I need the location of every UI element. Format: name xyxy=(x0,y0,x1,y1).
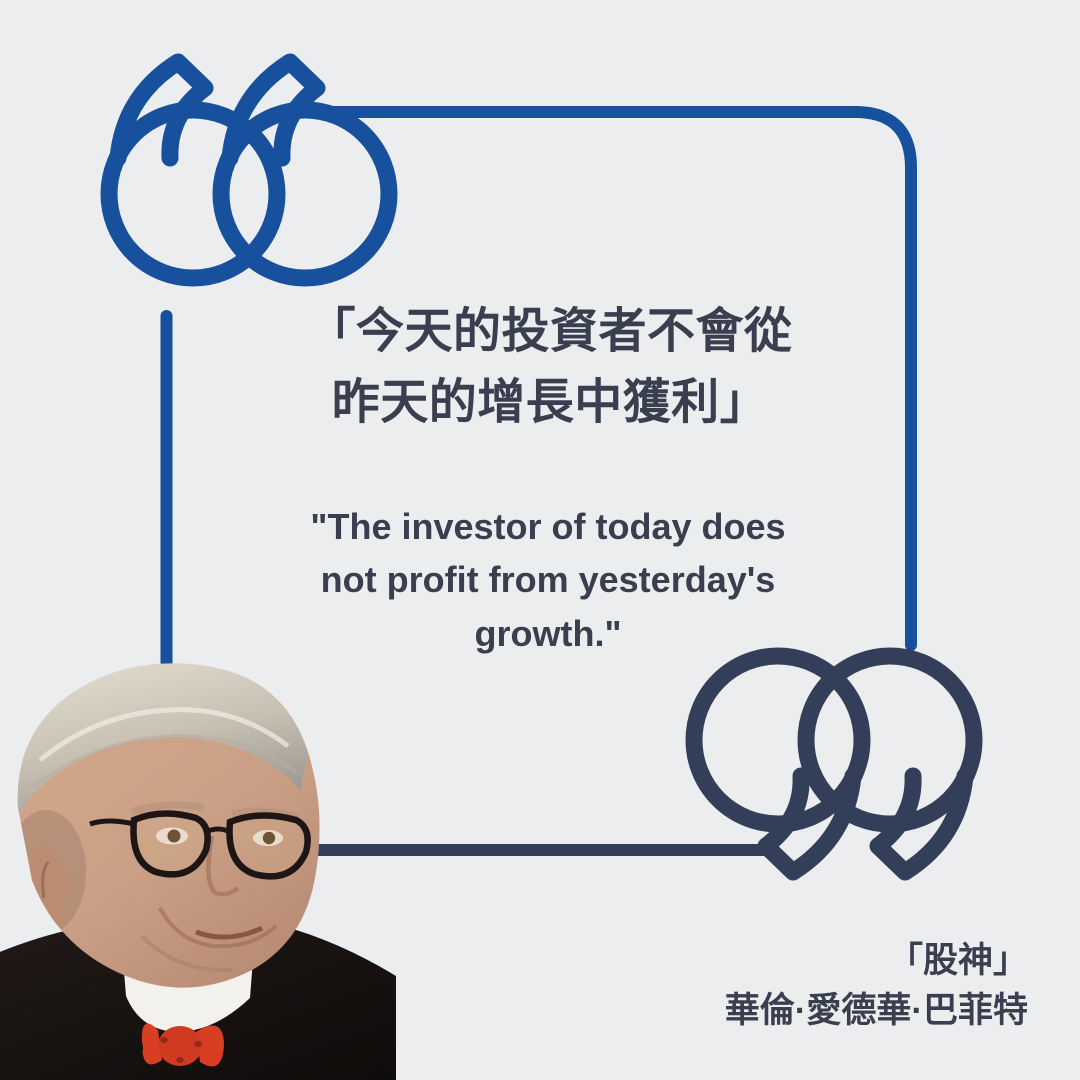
portrait-bowtie xyxy=(142,1024,224,1067)
portrait-head xyxy=(0,640,400,1040)
close-quote-tail-2 xyxy=(878,776,965,872)
close-quote-tail-1 xyxy=(766,776,853,872)
portrait-lapel-mic xyxy=(125,1036,143,1060)
open-quote-tail-2 xyxy=(230,62,317,158)
portrait-glasses xyxy=(90,813,308,876)
portrait-neck xyxy=(132,888,222,962)
close-quote-bowl-2 xyxy=(806,656,974,824)
portrait-warren-buffett xyxy=(0,640,400,1080)
quote-card: 「今天的投資者不會從 昨天的增長中獲利」 "The investor of to… xyxy=(0,0,1080,1080)
open-quote-bowl-2 xyxy=(221,110,389,278)
close-quote-bowl-1 xyxy=(694,656,862,824)
attribution-title: 「股神」 xyxy=(508,936,1028,986)
portrait-suit xyxy=(0,916,396,1080)
attribution-name: 華倫·愛德華·巴菲特 xyxy=(508,986,1028,1036)
open-quote-bowl-1 xyxy=(109,110,277,278)
quote-chinese-line-1: 「今天的投資者不會從 xyxy=(250,296,850,367)
quote-chinese: 「今天的投資者不會從 昨天的增長中獲利」 xyxy=(250,296,850,438)
portrait-shirt xyxy=(120,920,256,1032)
quote-english-line-2: not profit from yesterday's xyxy=(248,553,848,606)
open-quote-tail-1 xyxy=(118,62,205,158)
quote-chinese-line-2: 昨天的增長中獲利」 xyxy=(250,367,850,438)
quote-english-line-1: "The investor of today does xyxy=(248,500,848,553)
portrait-graphic xyxy=(0,640,400,1080)
quote-english: "The investor of today does not profit f… xyxy=(248,500,848,660)
quote-english-line-3: growth." xyxy=(248,607,848,660)
attribution: 「股神」 華倫·愛德華·巴菲特 xyxy=(508,936,1028,1035)
